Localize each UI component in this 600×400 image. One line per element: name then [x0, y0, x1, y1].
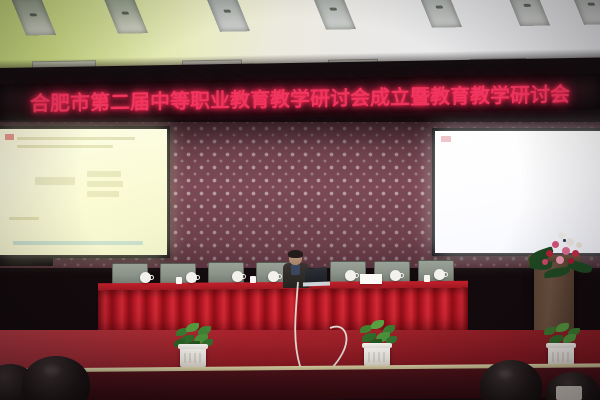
audience-head	[480, 360, 542, 400]
audience-paper	[556, 386, 582, 400]
audience-heads	[0, 0, 600, 400]
conference-hall-photo: 合肥市第二届中等职业教育教学研讨会成立暨教育教学研讨会	[0, 0, 600, 400]
audience-head	[22, 356, 90, 400]
